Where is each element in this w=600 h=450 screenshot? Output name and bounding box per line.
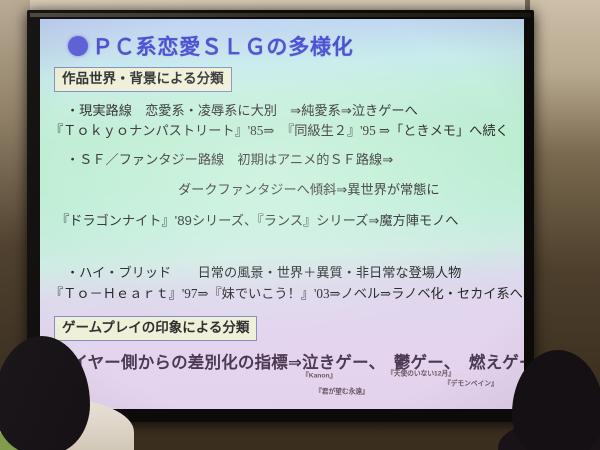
bullet-line-sf-fantasy-route: ・ＳＦ／ファンタジー路線 初期はアニメ的ＳＦ路線⇒ — [66, 151, 393, 169]
annotation-demonbane: 『デモンベイン』 — [444, 379, 498, 389]
bullet-line-realistic-route: ・現実路線 恋愛系・凌辱系に大別 ⇒純愛系⇒泣きゲーへ — [66, 102, 418, 120]
presentation-slide: ＰＣ系恋愛ＳＬＧの多様化 作品世界・背景による分類 ・現実路線 恋愛系・凌辱系に… — [40, 19, 524, 409]
annotation-kimi-ga-nozomu-eien: 『君が望む永遠』 — [315, 387, 369, 397]
section-header-gameplay-impression: ゲームプレイの印象による分類 — [54, 316, 257, 341]
section-header-world-classification: 作品世界・背景による分類 — [54, 67, 232, 92]
slide-title: ＰＣ系恋愛ＳＬＧの多様化 — [68, 31, 354, 61]
photo-of-projected-slide: ＰＣ系恋愛ＳＬＧの多様化 作品世界・背景による分類 ・現実路線 恋愛系・凌辱系に… — [0, 0, 600, 450]
example-line-dragon-knight-rance: 『ドラゴンナイト』'89シリーズ、『ランス』シリーズ⇒魔方陣モノへ — [56, 212, 459, 230]
bullet-line-hybrid: ・ハイ・ブリッド 日常の風景・世界＋異質・非日常な登場人物 — [66, 264, 461, 282]
annotation-tenshi-no-inai-12gatsu: 『天使のいない12月』 — [387, 369, 455, 379]
bezel-highlight — [30, 13, 531, 17]
filled-circle-bullet-icon — [68, 36, 88, 56]
example-line-to-heart-imouto: 『Ｔｏ－Ｈｅａｒｔ』'97⇒『妹でいこう！』'03⇒ノベル⇒ラノベ化・セカイ系へ — [50, 285, 523, 303]
slide-content: ＰＣ系恋愛ＳＬＧの多様化 作品世界・背景による分類 ・現実路線 恋愛系・凌辱系に… — [40, 19, 524, 409]
annotation-kanon: 『Kanon』 — [302, 371, 336, 381]
slide-title-text: ＰＣ系恋愛ＳＬＧの多様化 — [92, 31, 354, 61]
subline-dark-fantasy: ダークファンタジーへ傾斜⇒異世界が常態に — [178, 181, 440, 199]
example-line-tokyo-nampa-street: 『Ｔｏｋｙｏナンパストリート』'85⇒ 『同級生２』'95 ⇒「ときメモ」へ続く — [50, 122, 509, 140]
